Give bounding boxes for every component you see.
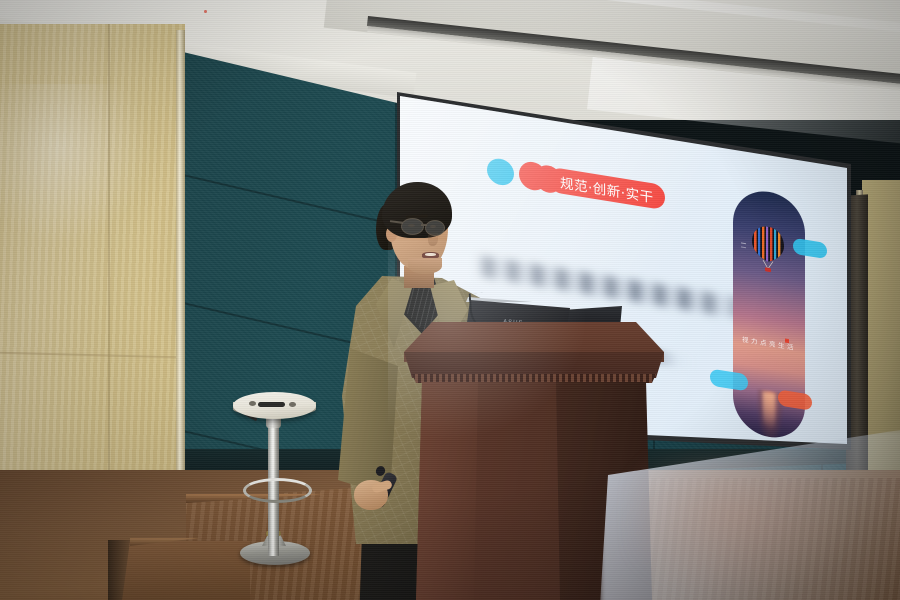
slide-badge: 规范·创新·实干 (549, 167, 665, 211)
photo-line-1 (741, 242, 746, 244)
photo-line-2 (741, 246, 746, 248)
stool-seat-hole-right (289, 402, 296, 407)
stool-footrest-ring (243, 478, 312, 503)
projector-light-warm-core (630, 455, 860, 600)
stage-step (122, 541, 250, 600)
photo-reflection-core (763, 392, 775, 428)
photo-caption: 视力点亮生活 (733, 332, 805, 354)
stool-seat-hole-left (249, 401, 256, 406)
podium-dentil-trim (412, 374, 656, 383)
laser-pointer-dot (204, 10, 207, 13)
photo-accent-dot-icon (785, 338, 789, 342)
hot-air-balloon-icon (749, 223, 787, 277)
presenter-nose (428, 232, 438, 246)
glasses-lens-left (401, 218, 424, 235)
wall-sheen (0, 84, 150, 244)
presenter-chin (408, 258, 442, 274)
podium-facet-left (416, 382, 478, 600)
wall-seam-horizontal (0, 351, 185, 358)
stool-seat-slot (258, 402, 285, 407)
presenter-teeth (425, 253, 436, 256)
glasses-bridge (421, 224, 427, 226)
presentation-photo-scene: 规范·创新·实干 (0, 0, 900, 600)
